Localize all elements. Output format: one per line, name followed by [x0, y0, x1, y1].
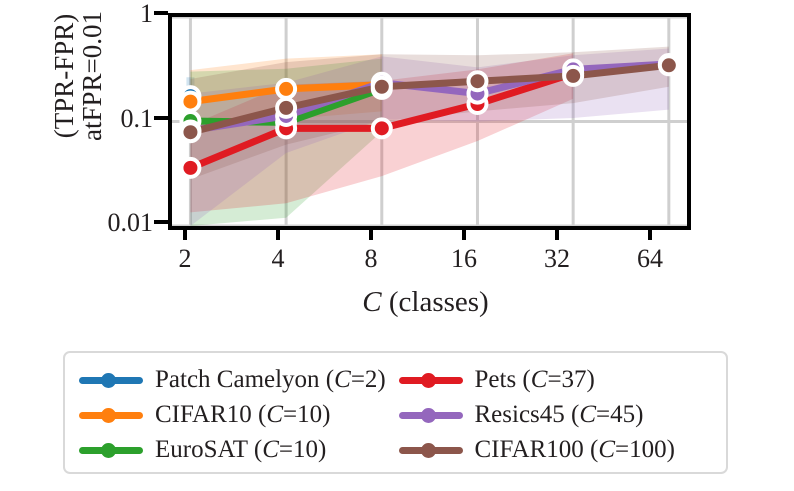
- legend-dot-icon: [421, 408, 436, 423]
- legend-item-eurosat[interactable]: EuroSAT (C=10): [79, 432, 393, 467]
- figure: (TPR-FPR) atFPR=0.01 1 0.1 0.01 2 4 8 16…: [0, 0, 794, 491]
- legend-label-cifar100: CIFAR100 (C=100): [475, 437, 675, 462]
- legend: Patch Camelyon (C=2) Pets (C=37) CIFAR10…: [63, 351, 728, 474]
- x-tick-label-4: 4: [248, 246, 308, 272]
- x-axis-label: C (classes): [168, 286, 683, 319]
- marker-cifar100-8: [373, 78, 391, 96]
- x-axis-label-rest: (classes): [382, 286, 489, 318]
- legend-swatch-pets: [399, 369, 463, 391]
- marker-cifar100-4: [277, 99, 295, 117]
- plot-area: [168, 13, 691, 230]
- x-tick-label-64: 64: [620, 246, 680, 272]
- legend-item-cifar100[interactable]: CIFAR100 (C=100): [399, 432, 713, 467]
- legend-swatch-eurosat: [79, 439, 143, 461]
- y-tick-mark-0.1: [154, 116, 168, 120]
- legend-item-patch-camelyon[interactable]: Patch Camelyon (C=2): [79, 362, 393, 397]
- legend-dot-icon: [101, 373, 116, 388]
- y-tick-mark-1: [154, 11, 168, 15]
- legend-swatch-resics45: [399, 404, 463, 426]
- legend-item-cifar10[interactable]: CIFAR10 (C=10): [79, 397, 393, 432]
- y-tick-label-0.1: 0.1: [43, 106, 153, 132]
- legend-dot-icon: [421, 373, 436, 388]
- legend-swatch-cifar100: [399, 439, 463, 461]
- marker-cifar100-2: [181, 123, 199, 141]
- y-axis-label: (TPR-FPR) atFPR=0.01: [50, 0, 106, 196]
- legend-label-cifar10: CIFAR10 (C=10): [155, 402, 330, 427]
- legend-dot-icon: [101, 408, 116, 423]
- marker-cifar10-4: [277, 80, 295, 98]
- x-tick-label-2: 2: [155, 246, 215, 272]
- plot-canvas: [172, 17, 687, 226]
- legend-label-pets: Pets (C=37): [475, 367, 595, 392]
- x-tick-label-32: 32: [527, 246, 587, 272]
- y-tick-mark-0.01: [154, 220, 168, 224]
- legend-dot-icon: [421, 443, 436, 458]
- legend-label-patch-camelyon: Patch Camelyon (C=2): [155, 367, 386, 392]
- x-tick-label-8: 8: [341, 246, 401, 272]
- legend-dot-icon: [101, 443, 116, 458]
- legend-item-pets[interactable]: Pets (C=37): [399, 362, 713, 397]
- legend-label-resics45: Resics45 (C=45): [475, 402, 644, 427]
- y-tick-label-0.01: 0.01: [43, 210, 153, 236]
- legend-item-resics45[interactable]: Resics45 (C=45): [399, 397, 713, 432]
- marker-cifar100-16: [468, 72, 486, 90]
- marker-pets-2: [181, 159, 199, 177]
- legend-label-eurosat: EuroSAT (C=10): [155, 437, 326, 462]
- legend-swatch-cifar10: [79, 404, 143, 426]
- marker-cifar100-64: [660, 56, 678, 74]
- marker-cifar10-2: [181, 93, 199, 111]
- marker-cifar100-32: [564, 67, 582, 85]
- x-tick-label-16: 16: [434, 246, 494, 272]
- legend-swatch-patch-camelyon: [79, 369, 143, 391]
- x-axis-label-var: C: [362, 286, 381, 318]
- marker-pets-8: [373, 119, 391, 137]
- y-tick-label-1: 1: [43, 1, 153, 27]
